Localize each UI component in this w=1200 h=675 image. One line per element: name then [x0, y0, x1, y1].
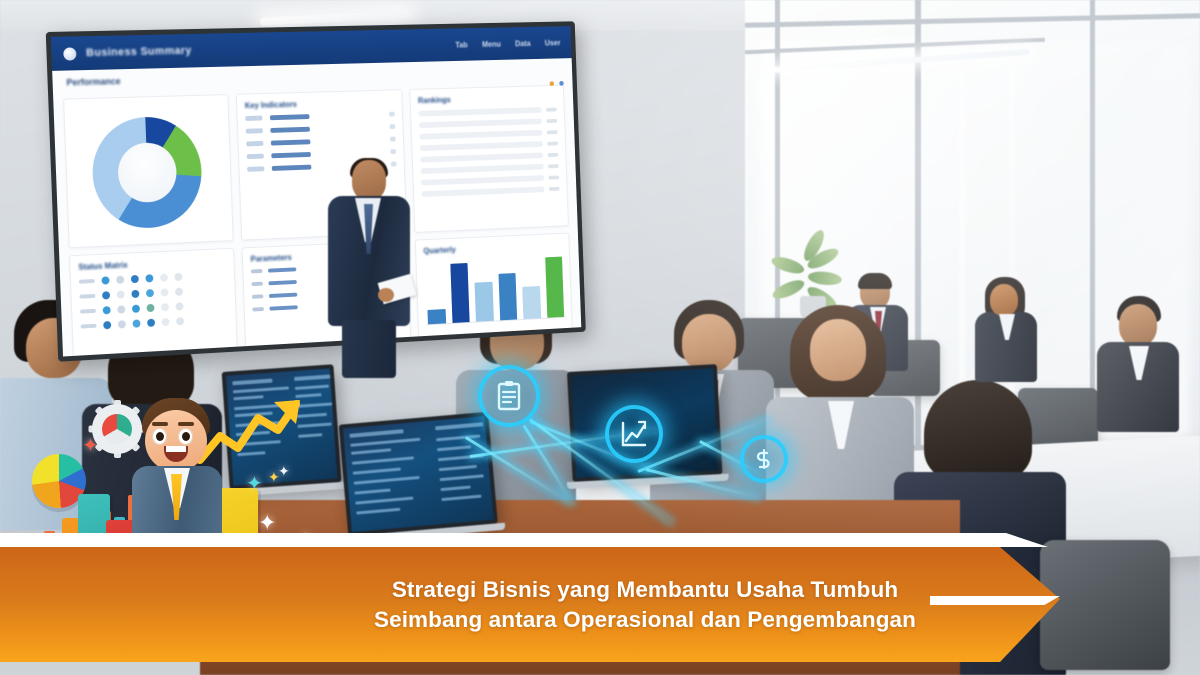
dashboard-app-title: Business Summary: [86, 45, 192, 59]
bar-chart-plot: [426, 251, 565, 324]
list-item: [245, 112, 395, 121]
nav-item-tab[interactable]: Tab: [455, 40, 468, 49]
screenshot-canvas: Business Summary Tab Menu Data User Perf…: [0, 0, 1200, 675]
bar-row-highlighted: [420, 163, 558, 174]
growth-chart-icon[interactable]: [605, 405, 663, 463]
dashboard-body: Key Indicators Rankings: [53, 81, 581, 357]
laptop-screen[interactable]: [343, 416, 494, 532]
banner-title-line-1: Strategi Bisnis yang Membantu Usaha Tumb…: [392, 577, 898, 602]
ranking-bars-card: Rankings: [409, 85, 569, 233]
clipboard-report-icon[interactable]: [478, 365, 540, 427]
app-logo-icon: [63, 47, 76, 60]
matrix-row: [79, 271, 227, 286]
matrix-row: [81, 315, 229, 331]
dashboard-screen[interactable]: Business Summary Tab Menu Data User Perf…: [51, 26, 581, 356]
matrix-row: [79, 285, 227, 300]
presentation-display: Business Summary Tab Menu Data User Perf…: [46, 21, 586, 361]
laptop-center[interactable]: [339, 412, 500, 555]
nav-item-user[interactable]: User: [545, 38, 561, 47]
card-title: Key Indicators: [245, 97, 395, 110]
bar-row: [421, 186, 559, 197]
bar-row: [421, 175, 559, 186]
nav-item-data[interactable]: Data: [515, 39, 531, 48]
sparkle-icon: ✦: [258, 512, 276, 534]
donut-chart-card: [63, 94, 234, 248]
office-chair: [1040, 540, 1170, 670]
dashboard-nav[interactable]: Tab Menu Data User: [455, 38, 560, 49]
banner-title-block: Strategi Bisnis yang Membantu Usaha Tumb…: [0, 575, 1060, 634]
list-item: [246, 137, 395, 147]
dashboard-row-top: Key Indicators Rankings: [63, 85, 569, 249]
quarterly-bar-chart-card: Quarterly: [415, 233, 573, 340]
banner-title-line-2: Seimbang antara Operasional dan Pengemba…: [300, 605, 990, 635]
bar-row: [419, 129, 557, 139]
title-banner: Strategi Bisnis yang Membantu Usaha Tumb…: [0, 547, 1060, 662]
nav-item-menu[interactable]: Menu: [482, 39, 501, 48]
matrix-row: [80, 300, 228, 316]
currency-icon[interactable]: [740, 435, 788, 483]
window-reflection: [960, 70, 964, 430]
person-background: [975, 280, 1037, 380]
bar-row: [420, 141, 558, 151]
list-item: [246, 124, 395, 134]
card-title: Rankings: [418, 92, 557, 105]
bar-row: [420, 152, 558, 163]
dashboard-section-title: Performance: [66, 76, 120, 87]
status-matrix-card: Status Matrix: [69, 248, 238, 357]
person-background: [1095, 300, 1181, 430]
banner-top-strip: [0, 533, 1048, 547]
bar-row: [418, 107, 556, 117]
sparkle-icon: ✦: [268, 470, 280, 484]
card-title: Status Matrix: [78, 256, 226, 272]
card-action-dots[interactable]: [549, 81, 563, 86]
bar-row: [419, 118, 557, 128]
display-bezel: Business Summary Tab Menu Data User Perf…: [46, 21, 586, 361]
donut-chart-icon: [91, 116, 204, 231]
presenter-person: [322, 160, 414, 375]
banner-accent-stripe: [930, 596, 1060, 605]
